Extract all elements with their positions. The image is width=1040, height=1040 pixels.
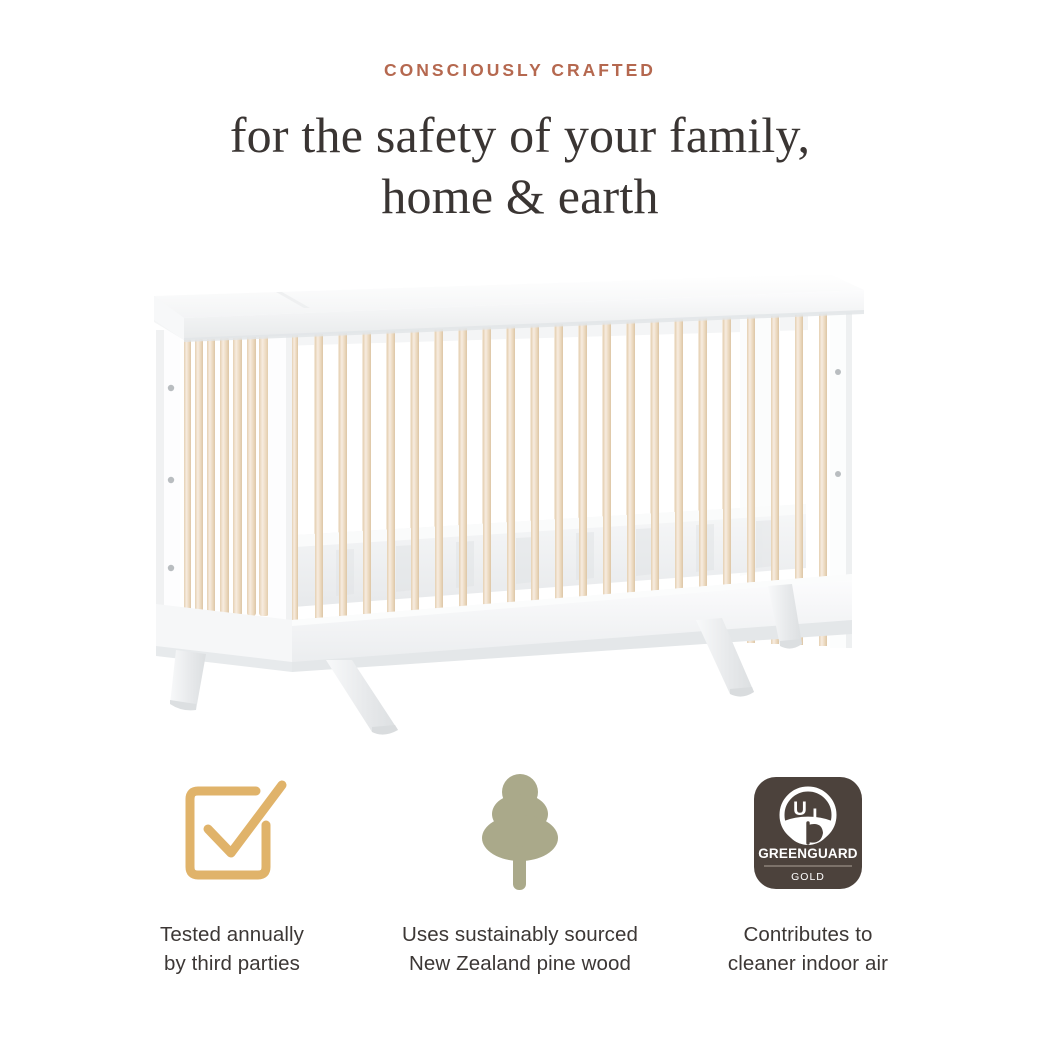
feature-sustainable-wood: Uses sustainably sourced New Zealand pin…: [376, 768, 664, 978]
caption-line-1: Contributes to: [743, 923, 872, 946]
greenguard-gold-badge-icon: U L GREENGUARD GOLD: [748, 768, 868, 898]
feature-tested-annually: Tested annually by third parties: [88, 768, 376, 978]
screw-dot: [168, 477, 174, 483]
caption-line-2: New Zealand pine wood: [402, 949, 638, 978]
screw-dot: [835, 471, 841, 477]
screw-dot: [168, 565, 174, 571]
header: CONSCIOUSLY CRAFTED for the safety of yo…: [0, 0, 1040, 227]
svg-text:U: U: [793, 799, 807, 820]
badge-level: GOLD: [791, 871, 825, 883]
caption-line-2: cleaner indoor air: [728, 949, 888, 978]
leg-center-front: [326, 660, 398, 732]
crib-left-end-panel: [156, 325, 292, 622]
crib-illustration: [140, 268, 900, 738]
headline-line-2: home & earth: [0, 166, 1040, 227]
caption-line-2: by third parties: [160, 949, 304, 978]
feature-caption: Contributes to cleaner indoor air: [728, 920, 888, 978]
feature-caption: Tested annually by third parties: [160, 920, 304, 978]
eyebrow-text: CONSCIOUSLY CRAFTED: [0, 62, 1040, 80]
feature-row: Tested annually by third parties Uses su…: [0, 768, 1040, 978]
product-image: [0, 268, 1040, 758]
checkbox-check-icon: [170, 768, 294, 898]
badge-title: GREENGUARD: [758, 846, 858, 861]
caption-line-1: Uses sustainably sourced: [402, 923, 638, 946]
marketing-panel: CONSCIOUSLY CRAFTED for the safety of yo…: [0, 0, 1040, 1040]
feature-caption: Uses sustainably sourced New Zealand pin…: [402, 920, 638, 978]
headline-line-1: for the safety of your family,: [230, 107, 810, 163]
page-title: for the safety of your family, home & ea…: [0, 105, 1040, 227]
screw-dot: [835, 369, 841, 375]
feature-clean-air: U L GREENGUARD GOLD Contributes to clean…: [664, 768, 952, 978]
screw-dot: [168, 385, 174, 391]
tree-icon: [464, 768, 576, 898]
svg-text:L: L: [812, 806, 824, 827]
caption-line-1: Tested annually: [160, 923, 304, 946]
